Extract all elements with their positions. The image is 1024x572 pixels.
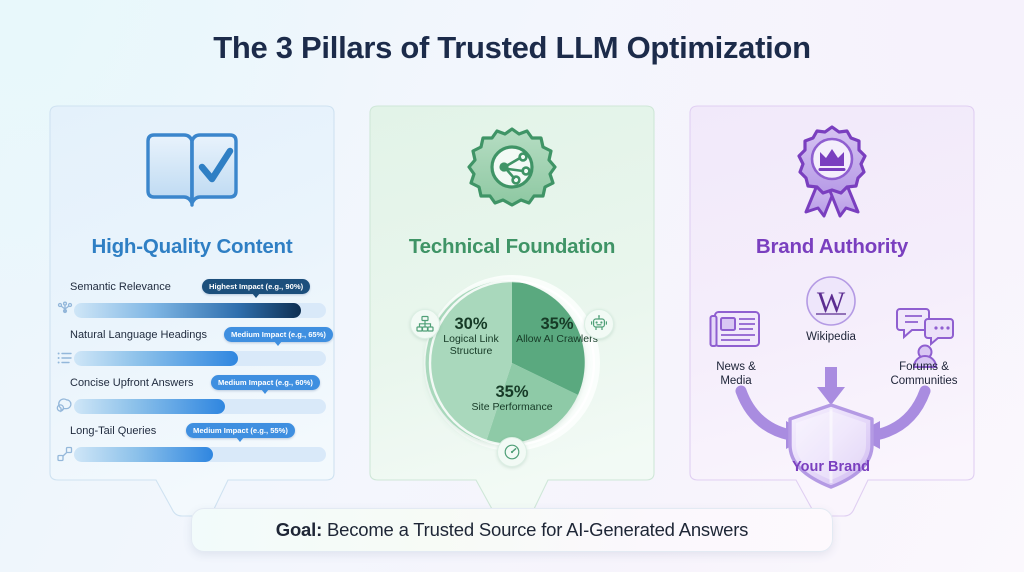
metric-fill	[74, 351, 238, 366]
node-connection-icon	[56, 445, 74, 463]
infographic-canvas: The 3 Pillars of Trusted LLM Optimizatio…	[0, 0, 1024, 572]
goal-statement: Become a Trusted Source for AI-Generated…	[322, 519, 748, 540]
source-label-wikipedia: Wikipedia	[788, 331, 874, 345]
pillar-high-quality-content: High-Quality Content Semantic Relevance …	[38, 105, 346, 517]
metric-label: Long-Tail Queries	[70, 425, 156, 437]
pie-label-logical-link-structure: 30% Logical Link Structure	[428, 315, 514, 358]
pie-name: Logical Link Structure	[428, 334, 514, 358]
metric-fill	[74, 303, 301, 318]
metric-list: Semantic Relevance Highest Impact (e.g.,…	[54, 281, 330, 473]
metric-label: Semantic Relevance	[70, 281, 171, 293]
metric-badge: Medium Impact (e.g., 55%)	[186, 423, 295, 438]
pie-name: Site Performance	[469, 402, 555, 414]
pillar-title-content: High-Quality Content	[54, 235, 330, 259]
pillar-brand-authority: Brand Authority W	[678, 105, 986, 517]
technical-pie-chart: 30% Logical Link Structure 35% Allow AI …	[422, 273, 602, 453]
metric-fill	[74, 447, 213, 462]
pillar-title-technical: Technical Foundation	[374, 235, 650, 259]
page-title: The 3 Pillars of Trusted LLM Optimizatio…	[0, 30, 1024, 66]
pie-name: Allow AI Crawlers	[514, 334, 600, 346]
metric-fill	[74, 399, 225, 414]
goal-prefix: Goal:	[276, 519, 322, 540]
source-label-news-media: News & Media	[700, 361, 772, 389]
gear-share-icon	[374, 125, 650, 217]
share-nodes-icon	[56, 301, 74, 319]
metric-track	[74, 351, 326, 366]
metric-row: Natural Language Headings Medium Impact …	[56, 329, 328, 377]
metric-label: Natural Language Headings	[70, 329, 207, 341]
goal-text: Goal: Become a Trusted Source for AI-Gen…	[276, 519, 748, 541]
pillar-technical-foundation: Technical Foundation	[358, 105, 666, 517]
award-ribbon-crown-icon	[694, 125, 970, 217]
speedometer-icon	[497, 437, 527, 467]
pillar-title-authority: Brand Authority	[694, 235, 970, 259]
metric-row: Concise Upfront Answers Medium Impact (e…	[56, 377, 328, 425]
metric-row: Long-Tail Queries Medium Impact (e.g., 5…	[56, 425, 328, 473]
metric-badge: Highest Impact (e.g., 90%)	[202, 279, 310, 294]
metric-track	[74, 447, 326, 462]
pie-value: 35%	[469, 383, 555, 401]
pillar-authority-body: Brand Authority W	[678, 105, 986, 480]
pillar-content-body: High-Quality Content Semantic Relevance …	[38, 105, 346, 480]
pillar-technical-body: Technical Foundation	[358, 105, 666, 480]
metric-track	[74, 399, 326, 414]
metric-track	[74, 303, 326, 318]
metric-row: Semantic Relevance Highest Impact (e.g.,…	[56, 281, 328, 329]
brand-target-label: Your Brand	[758, 459, 904, 476]
metric-badge: Medium Impact (e.g., 60%)	[211, 375, 320, 390]
chat-bubbles-icon	[56, 397, 74, 415]
source-label-forums-communities: Forums & Communities	[878, 361, 970, 389]
metric-label: Concise Upfront Answers	[70, 377, 194, 389]
goal-banner: Goal: Become a Trusted Source for AI-Gen…	[191, 508, 833, 552]
robot-icon	[584, 309, 614, 339]
open-book-check-icon	[54, 125, 330, 217]
pie-label-site-performance: 35% Site Performance	[469, 383, 555, 414]
metric-badge: Medium Impact (e.g., 65%)	[224, 327, 333, 342]
pie-value: 30%	[428, 315, 514, 333]
sitemap-icon	[410, 309, 440, 339]
bullet-list-icon	[56, 349, 74, 367]
brand-authority-diagram: W	[694, 269, 970, 505]
